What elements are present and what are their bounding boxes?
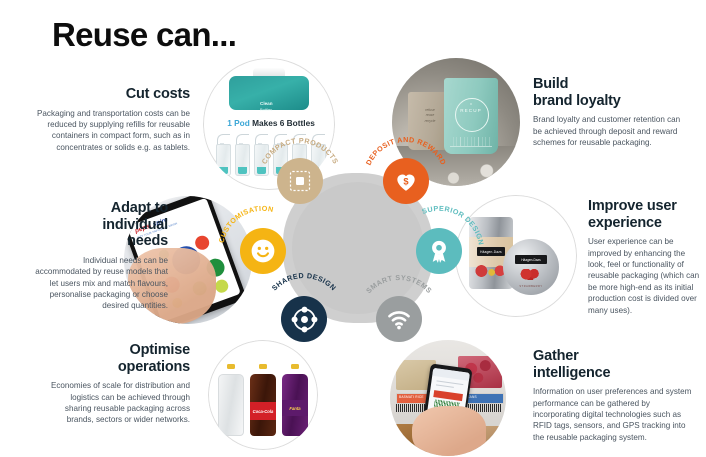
badge-deposit-and-reward[interactable]: $ <box>383 158 429 204</box>
page-title: Reuse can... <box>52 18 236 51</box>
spray-bottle <box>253 132 270 176</box>
heading-cut-costs: Cut costs <box>32 86 190 103</box>
body-cut-costs: Packaging and transportation costs can b… <box>32 108 190 154</box>
badge-compact-products[interactable] <box>277 158 323 204</box>
hand-holding-scanner <box>412 406 486 456</box>
section-improve-user-experience: Improve user experience User experience … <box>588 198 704 316</box>
compact-square-icon <box>288 169 312 193</box>
network-nodes-icon <box>291 306 318 333</box>
heading-line-1: Improve user <box>588 198 677 214</box>
haagen-brand: Häagen-Dazs <box>477 247 505 256</box>
fanta-label: Fanta <box>282 400 308 416</box>
pod-caption-accent: 1 Pod <box>227 118 250 128</box>
bottle-clear <box>218 364 244 436</box>
pod-jar-label: CleanBottles <box>260 101 273 112</box>
pod-caption: 1 Pod Makes 6 Bottles <box>217 118 325 128</box>
heading-line-2: operations <box>118 359 190 375</box>
bottle-row: Coca-Cola Fanta <box>218 356 308 436</box>
haagen-brand-lid: Häagen-Dazs <box>515 255 547 264</box>
heart-dollar-icon: $ <box>393 168 419 194</box>
body-improve-user-experience: User experience can be improved by enhan… <box>588 236 704 316</box>
badge-shared-design[interactable] <box>281 296 327 342</box>
spray-bottle <box>215 132 232 176</box>
heading-line-1: Adapt to <box>111 200 168 216</box>
heading-line-1: Build <box>533 76 568 92</box>
body-gather-intelligence: Information on user preferences and syst… <box>533 386 693 443</box>
wifi-icon <box>386 306 412 332</box>
heading-line-1: Optimise <box>130 342 190 358</box>
section-build-brand-loyalty: Build brand loyalty Brand loyalty and cu… <box>533 76 683 148</box>
tin-lid: Häagen-Dazs STRAWBERRY <box>503 239 559 295</box>
photo-rfid-scan: BASMATI RICE BEANS <box>390 340 506 456</box>
badge-superior-design[interactable] <box>416 228 462 274</box>
badge-smart-systems[interactable] <box>376 296 422 342</box>
section-optimise-operations: Optimise operations Economies of scale f… <box>48 342 190 426</box>
photo-shared-bottles: Coca-Cola Fanta <box>208 340 318 450</box>
haagen-flavour: STRAWBERRY <box>513 285 549 288</box>
smiley-face-icon <box>250 238 276 264</box>
heading-gather-intelligence: Gather intelligence <box>533 348 693 381</box>
body-adapt-to-individual-needs: Individual needs can be accommodated by … <box>26 255 168 312</box>
photo-haagen-dazs-tins: Häagen-Dazs Häagen-Dazs STRAWBERRY <box>455 195 577 317</box>
bottle-fanta: Fanta <box>282 364 308 436</box>
heading-build-brand-loyalty: Build brand loyalty <box>533 76 683 109</box>
heading-line-1: Gather <box>533 348 579 364</box>
badge-customisation[interactable] <box>240 228 286 274</box>
section-adapt-to-individual-needs: Adapt to individual needs Individual nee… <box>26 200 168 312</box>
section-gather-intelligence: Gather intelligence Information on user … <box>533 348 693 443</box>
heading-line-2: brand loyalty <box>533 93 621 109</box>
heading-optimise-operations: Optimise operations <box>48 342 190 375</box>
tan-cup-label: refusereuserecycle <box>416 108 444 124</box>
pod-jar: CleanBottles <box>229 76 309 110</box>
heading-improve-user-experience: Improve user experience <box>588 198 704 231</box>
body-optimise-operations: Economies of scale for distribution and … <box>48 380 190 426</box>
heading-adapt-to-individual-needs: Adapt to individual needs <box>26 200 168 250</box>
heading-line-2: experience <box>588 215 662 231</box>
pod-caption-rest: Makes 6 Bottles <box>252 118 315 128</box>
recup-mark: II <box>444 102 498 106</box>
section-cut-costs: Cut costs Packaging and transportation c… <box>32 86 190 153</box>
infographic-canvas: Reuse can... CleanBottles 1 Pod Makes 6 … <box>0 0 706 457</box>
body-build-brand-loyalty: Brand loyalty and customer retention can… <box>533 114 683 148</box>
heading-line-3: needs <box>127 233 168 249</box>
award-rosette-icon <box>426 238 452 264</box>
heading-line-2: intelligence <box>533 365 610 381</box>
bin-label-basmati: BASMATI RICE <box>399 395 424 399</box>
svg-text:$: $ <box>403 177 409 187</box>
mint-cup: RECUP II <box>444 78 498 154</box>
recup-brand: RECUP <box>444 108 498 113</box>
heading-line-2: individual <box>102 217 168 233</box>
spray-bottle <box>234 132 251 176</box>
bottle-coca-cola: Coca-Cola <box>250 364 276 436</box>
coca-cola-label: Coca-Cola <box>250 402 276 420</box>
